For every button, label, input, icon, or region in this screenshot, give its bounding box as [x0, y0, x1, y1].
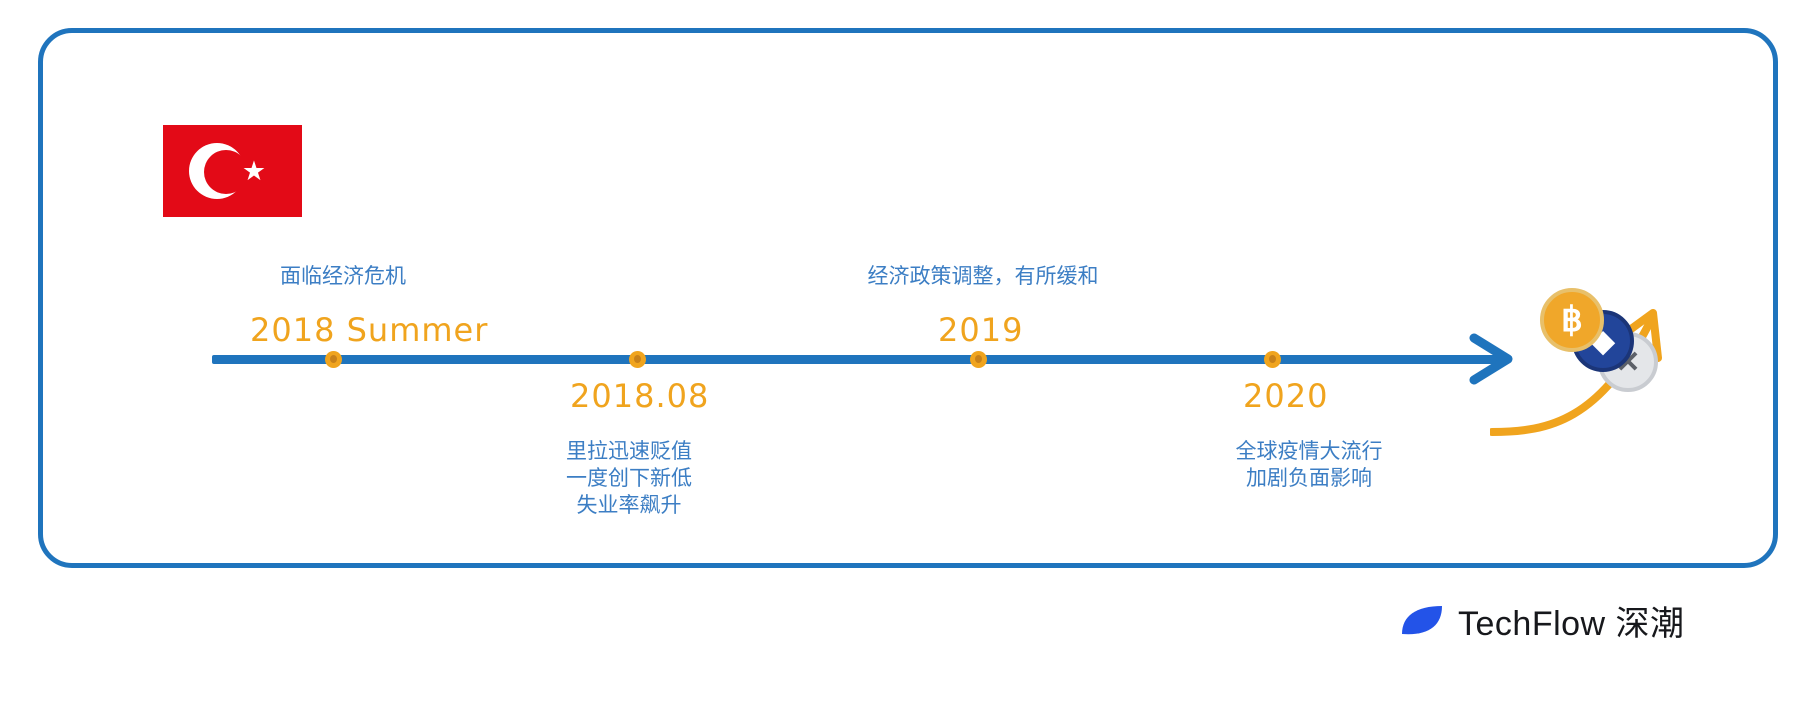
milestone-4-detail-line-1: 全球疫情大流行 [1144, 438, 1474, 465]
techflow-logo-icon [1400, 604, 1444, 638]
milestone-2-detail-line-2: 一度创下新低 [549, 465, 709, 492]
flag-star-icon: ★ [241, 158, 267, 184]
milestone-3-year: 2019 [938, 312, 1023, 348]
techflow-branding: TechFlow 深潮 [1400, 596, 1685, 645]
milestone-2-detail-line-3: 失业率飙升 [549, 492, 709, 519]
milestone-4-detail-line-2: 加剧负面影响 [1144, 465, 1474, 492]
milestone-3-note: 经济政策调整，有所缓和 [703, 263, 1263, 290]
milestone-4-year: 2020 [1243, 378, 1328, 414]
bitcoin-coin-icon: ฿ [1540, 288, 1604, 352]
milestone-1-year: 2018 Summer [250, 312, 488, 348]
timeline-dot-2 [629, 351, 646, 368]
milestone-1-note: 面临经济危机 [263, 263, 423, 290]
crypto-coins-group: ✕ ◆ ฿ [1540, 288, 1670, 408]
timeline-dot-4 [1264, 351, 1281, 368]
milestone-2-detail-line-1: 里拉迅速贬值 [549, 438, 709, 465]
timeline-axis [212, 355, 1507, 364]
timeline-dot-3 [970, 351, 987, 368]
techflow-logo-text: TechFlow 深潮 [1458, 596, 1685, 645]
timeline-dot-1 [325, 351, 342, 368]
milestone-2-year: 2018.08 [570, 378, 709, 414]
infographic-canvas: ★ 面临经济危机 2018 Summer 2018.08 里拉迅速贬值 一度创下… [0, 0, 1816, 710]
turkey-flag: ★ [163, 125, 302, 217]
